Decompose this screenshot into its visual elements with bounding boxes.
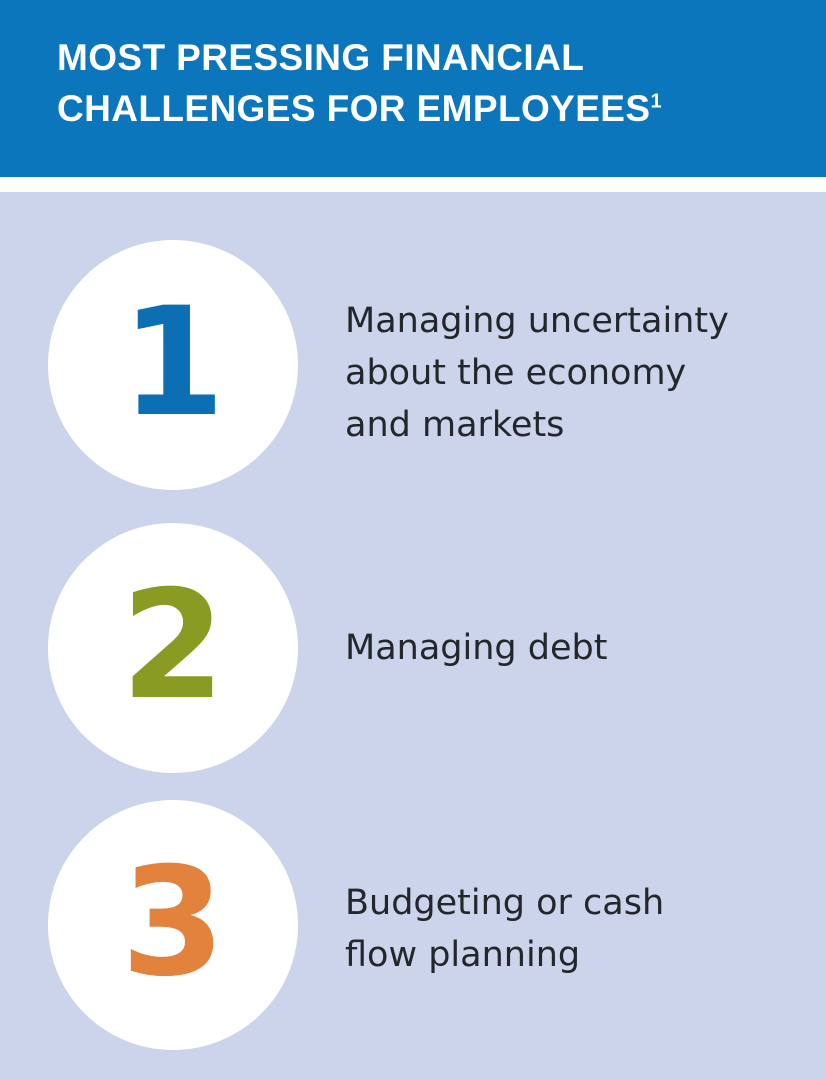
list-item: 2 Managing debt xyxy=(0,523,826,773)
rank-number-2: 2 xyxy=(121,571,225,721)
rank-number-1: 1 xyxy=(121,288,225,438)
list-item: 1 Managing uncertainty about the economy… xyxy=(0,240,826,490)
item-label-2: Managing debt xyxy=(345,622,775,674)
header-bar: MOST PRESSING FINANCIAL CHALLENGES FOR E… xyxy=(0,0,826,177)
header-divider xyxy=(0,177,826,192)
item-label-3: Budgeting or cash flow planning xyxy=(345,877,775,981)
page-title-line-1: MOST PRESSING FINANCIAL xyxy=(57,37,584,78)
page-title-line-2: CHALLENGES FOR EMPLOYEES xyxy=(57,88,650,129)
rank-badge-2: 2 xyxy=(48,523,298,773)
rank-number-3: 3 xyxy=(121,848,225,998)
list-item: 3 Budgeting or cash flow planning xyxy=(0,800,826,1050)
page-title: MOST PRESSING FINANCIAL CHALLENGES FOR E… xyxy=(57,32,777,134)
items-panel: 1 Managing uncertainty about the economy… xyxy=(0,192,826,1080)
rank-badge-3: 3 xyxy=(48,800,298,1050)
footnote-marker: 1 xyxy=(650,91,662,113)
rank-badge-1: 1 xyxy=(48,240,298,490)
infographic-card: MOST PRESSING FINANCIAL CHALLENGES FOR E… xyxy=(0,0,826,1080)
item-label-1: Managing uncertainty about the economy a… xyxy=(345,295,775,451)
